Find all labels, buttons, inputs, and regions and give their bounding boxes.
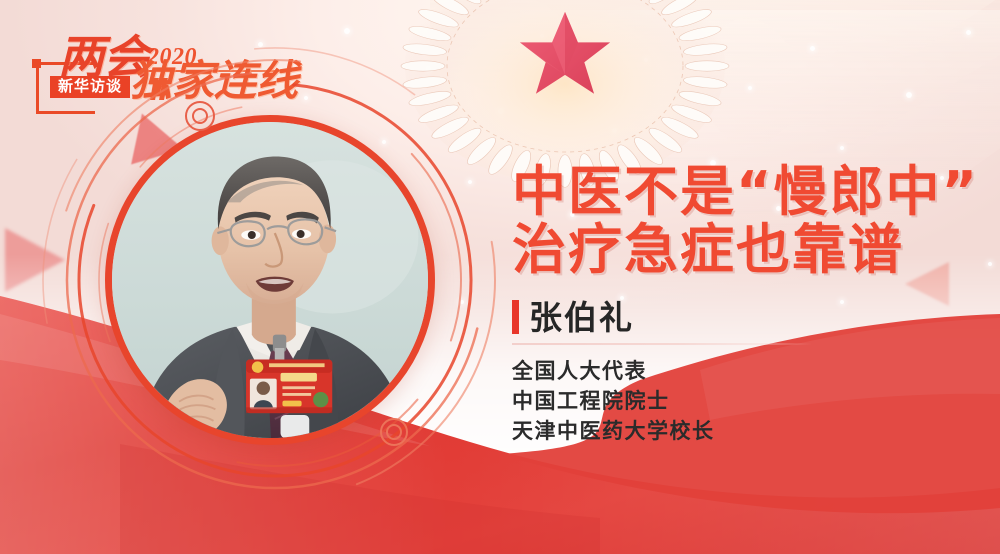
guest-name: 张伯礼 [529,301,634,334]
portrait-block [105,115,435,445]
name-divider [512,343,812,345]
poster-canvas: 两会 2020 独家连线 新华访谈 [0,0,1000,554]
headline-line-1: 中医不是“慢郎中” [512,163,982,221]
credential-item: 天津中医药大学校长 [512,416,842,446]
credential-item: 中国工程院院士 [512,386,842,416]
guest-credentials: 全国人大代表 中国工程院院士 天津中医药大学校长 [512,356,842,446]
headline-block: 中医不是“慢郎中” 治疗急症也靠谱 [512,163,982,280]
guest-info-block: 张伯礼 全国人大代表 中国工程院院士 天津中医药大学校长 [512,300,842,446]
double-ring-circle-bottom [380,418,408,446]
portrait-photo-frame [105,115,435,445]
guest-name-row: 张伯礼 [512,300,842,334]
double-ring-circle-top [185,101,215,131]
portrait-photo [112,122,428,438]
headline-line-2: 治疗急症也靠谱 [512,221,982,279]
credential-item: 全国人大代表 [512,356,842,386]
accent-bar [512,300,519,334]
